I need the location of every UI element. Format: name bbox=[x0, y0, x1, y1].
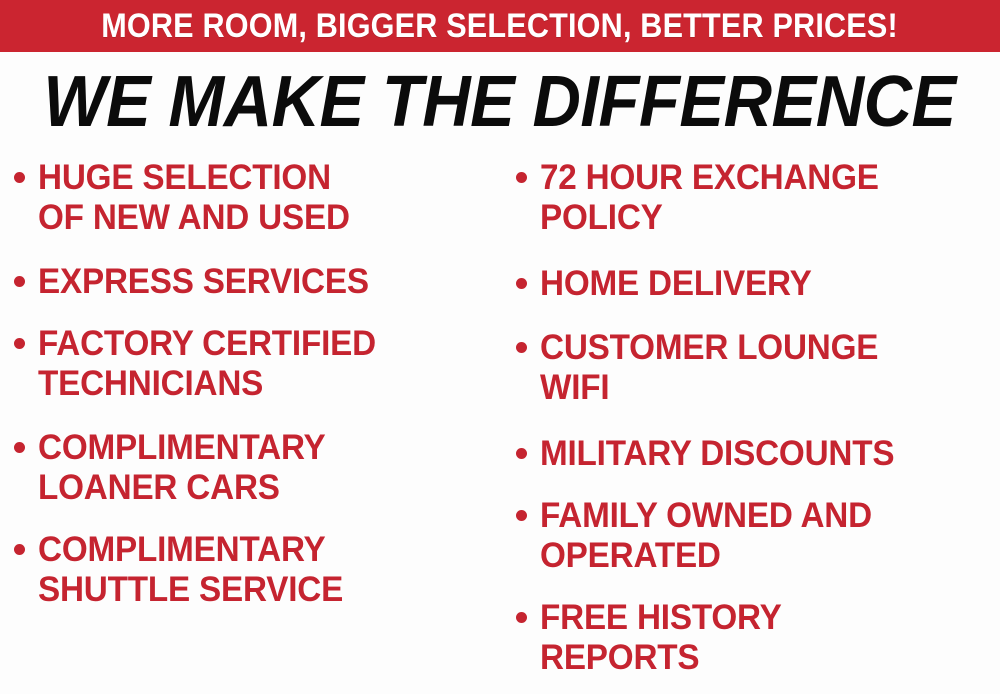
benefit-item: EXPRESS SERVICES bbox=[14, 262, 514, 302]
benefit-item: FACTORY CERTIFIEDTECHNICIANS bbox=[14, 324, 514, 404]
benefit-item-lines: MILITARY DISCOUNTS bbox=[540, 434, 1000, 474]
bullet-dot-icon bbox=[516, 448, 527, 459]
benefit-item-line: LOANER CARS bbox=[38, 468, 490, 508]
benefit-item-line: COMPLIMENTARY bbox=[38, 428, 490, 468]
benefit-item: COMPLIMENTARYSHUTTLE SERVICE bbox=[14, 530, 514, 610]
benefit-item-line: MILITARY DISCOUNTS bbox=[540, 434, 977, 474]
benefit-item-line: TECHNICIANS bbox=[38, 364, 490, 404]
benefit-item-lines: CUSTOMER LOUNGEWIFI bbox=[540, 328, 1000, 408]
benefit-item-lines: FACTORY CERTIFIEDTECHNICIANS bbox=[38, 324, 514, 404]
benefit-item: HOME DELIVERY bbox=[516, 264, 1000, 304]
bullet-dot-icon bbox=[516, 342, 527, 353]
benefit-item-lines: 72 HOUR EXCHANGEPOLICY bbox=[540, 158, 1000, 238]
benefit-item-lines: COMPLIMENTARYSHUTTLE SERVICE bbox=[38, 530, 514, 610]
benefit-item-line: CUSTOMER LOUNGE bbox=[540, 328, 977, 368]
benefit-item-line: 72 HOUR EXCHANGE bbox=[540, 158, 977, 198]
benefits-columns: HUGE SELECTIONOF NEW AND USEDEXPRESS SER… bbox=[0, 158, 1000, 678]
benefit-item-line: FAMILY OWNED AND bbox=[540, 496, 977, 536]
benefit-item-line: OPERATED bbox=[540, 536, 977, 576]
bullet-dot-icon bbox=[516, 510, 527, 521]
benefit-item-lines: FAMILY OWNED ANDOPERATED bbox=[540, 496, 1000, 576]
benefit-item-lines: EXPRESS SERVICES bbox=[38, 262, 514, 302]
benefit-item-line: POLICY bbox=[540, 198, 977, 238]
benefit-item-line: OF NEW AND USED bbox=[38, 198, 490, 238]
benefit-item: MILITARY DISCOUNTS bbox=[516, 434, 1000, 474]
benefit-item-lines: HUGE SELECTIONOF NEW AND USED bbox=[38, 158, 514, 238]
benefit-item: CUSTOMER LOUNGEWIFI bbox=[516, 328, 1000, 408]
benefit-item-line: FREE HISTORY bbox=[540, 598, 977, 638]
benefit-item-line: REPORTS bbox=[540, 638, 977, 678]
benefit-item-lines: COMPLIMENTARYLOANER CARS bbox=[38, 428, 514, 508]
bullet-dot-icon bbox=[516, 172, 527, 183]
benefit-item-line: WIFI bbox=[540, 368, 977, 408]
promo-banner: MORE ROOM, BIGGER SELECTION, BETTER PRIC… bbox=[0, 0, 1000, 52]
bullet-dot-icon bbox=[14, 338, 25, 349]
benefit-item-line: FACTORY CERTIFIED bbox=[38, 324, 490, 364]
benefit-item: FREE HISTORYREPORTS bbox=[516, 598, 1000, 678]
benefit-item-line: SHUTTLE SERVICE bbox=[38, 570, 490, 610]
benefit-item-lines: HOME DELIVERY bbox=[540, 264, 1000, 304]
benefits-column-right: 72 HOUR EXCHANGEPOLICYHOME DELIVERYCUSTO… bbox=[516, 158, 1000, 678]
promo-banner-text: MORE ROOM, BIGGER SELECTION, BETTER PRIC… bbox=[102, 9, 899, 43]
benefit-item-line: EXPRESS SERVICES bbox=[38, 262, 490, 302]
benefit-item-line: HOME DELIVERY bbox=[540, 264, 977, 304]
bullet-dot-icon bbox=[14, 276, 25, 287]
bullet-dot-icon bbox=[14, 172, 25, 183]
benefit-item: HUGE SELECTIONOF NEW AND USED bbox=[14, 158, 514, 238]
benefits-column-left: HUGE SELECTIONOF NEW AND USEDEXPRESS SER… bbox=[14, 158, 514, 610]
bullet-dot-icon bbox=[516, 612, 527, 623]
bullet-dot-icon bbox=[14, 544, 25, 555]
benefit-item: FAMILY OWNED ANDOPERATED bbox=[516, 496, 1000, 576]
headline-text: WE MAKE THE DIFFERENCE bbox=[44, 66, 956, 138]
benefit-item-lines: FREE HISTORYREPORTS bbox=[540, 598, 1000, 678]
benefit-item: COMPLIMENTARYLOANER CARS bbox=[14, 428, 514, 508]
benefit-item: 72 HOUR EXCHANGEPOLICY bbox=[516, 158, 1000, 238]
bullet-dot-icon bbox=[516, 278, 527, 289]
benefit-item-line: HUGE SELECTION bbox=[38, 158, 490, 198]
benefit-item-line: COMPLIMENTARY bbox=[38, 530, 490, 570]
bullet-dot-icon bbox=[14, 442, 25, 453]
headline: WE MAKE THE DIFFERENCE bbox=[0, 66, 1000, 138]
